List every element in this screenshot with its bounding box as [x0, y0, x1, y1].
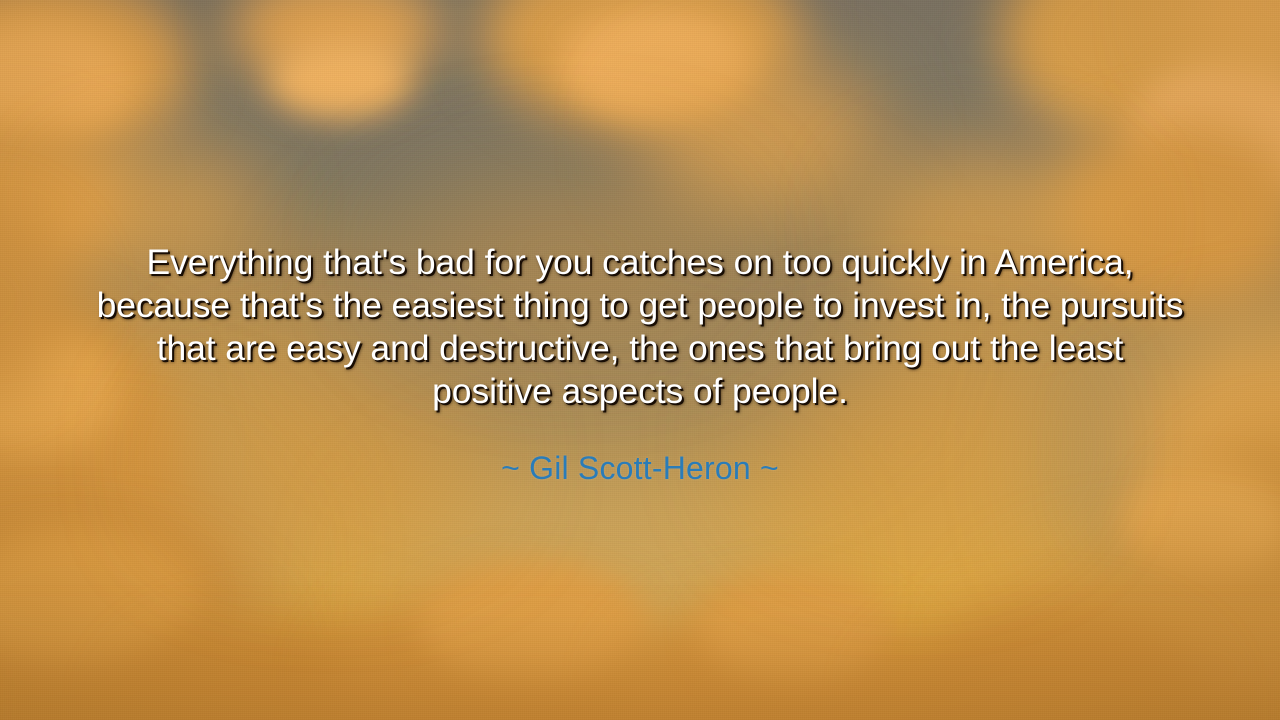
quote-attribution: ~ Gil Scott-Heron ~ — [501, 449, 779, 487]
quote-image-canvas: Everything that's bad for you catches on… — [0, 0, 1280, 720]
quote-text: Everything that's bad for you catches on… — [95, 241, 1185, 413]
quote-overlay: Everything that's bad for you catches on… — [0, 0, 1280, 720]
